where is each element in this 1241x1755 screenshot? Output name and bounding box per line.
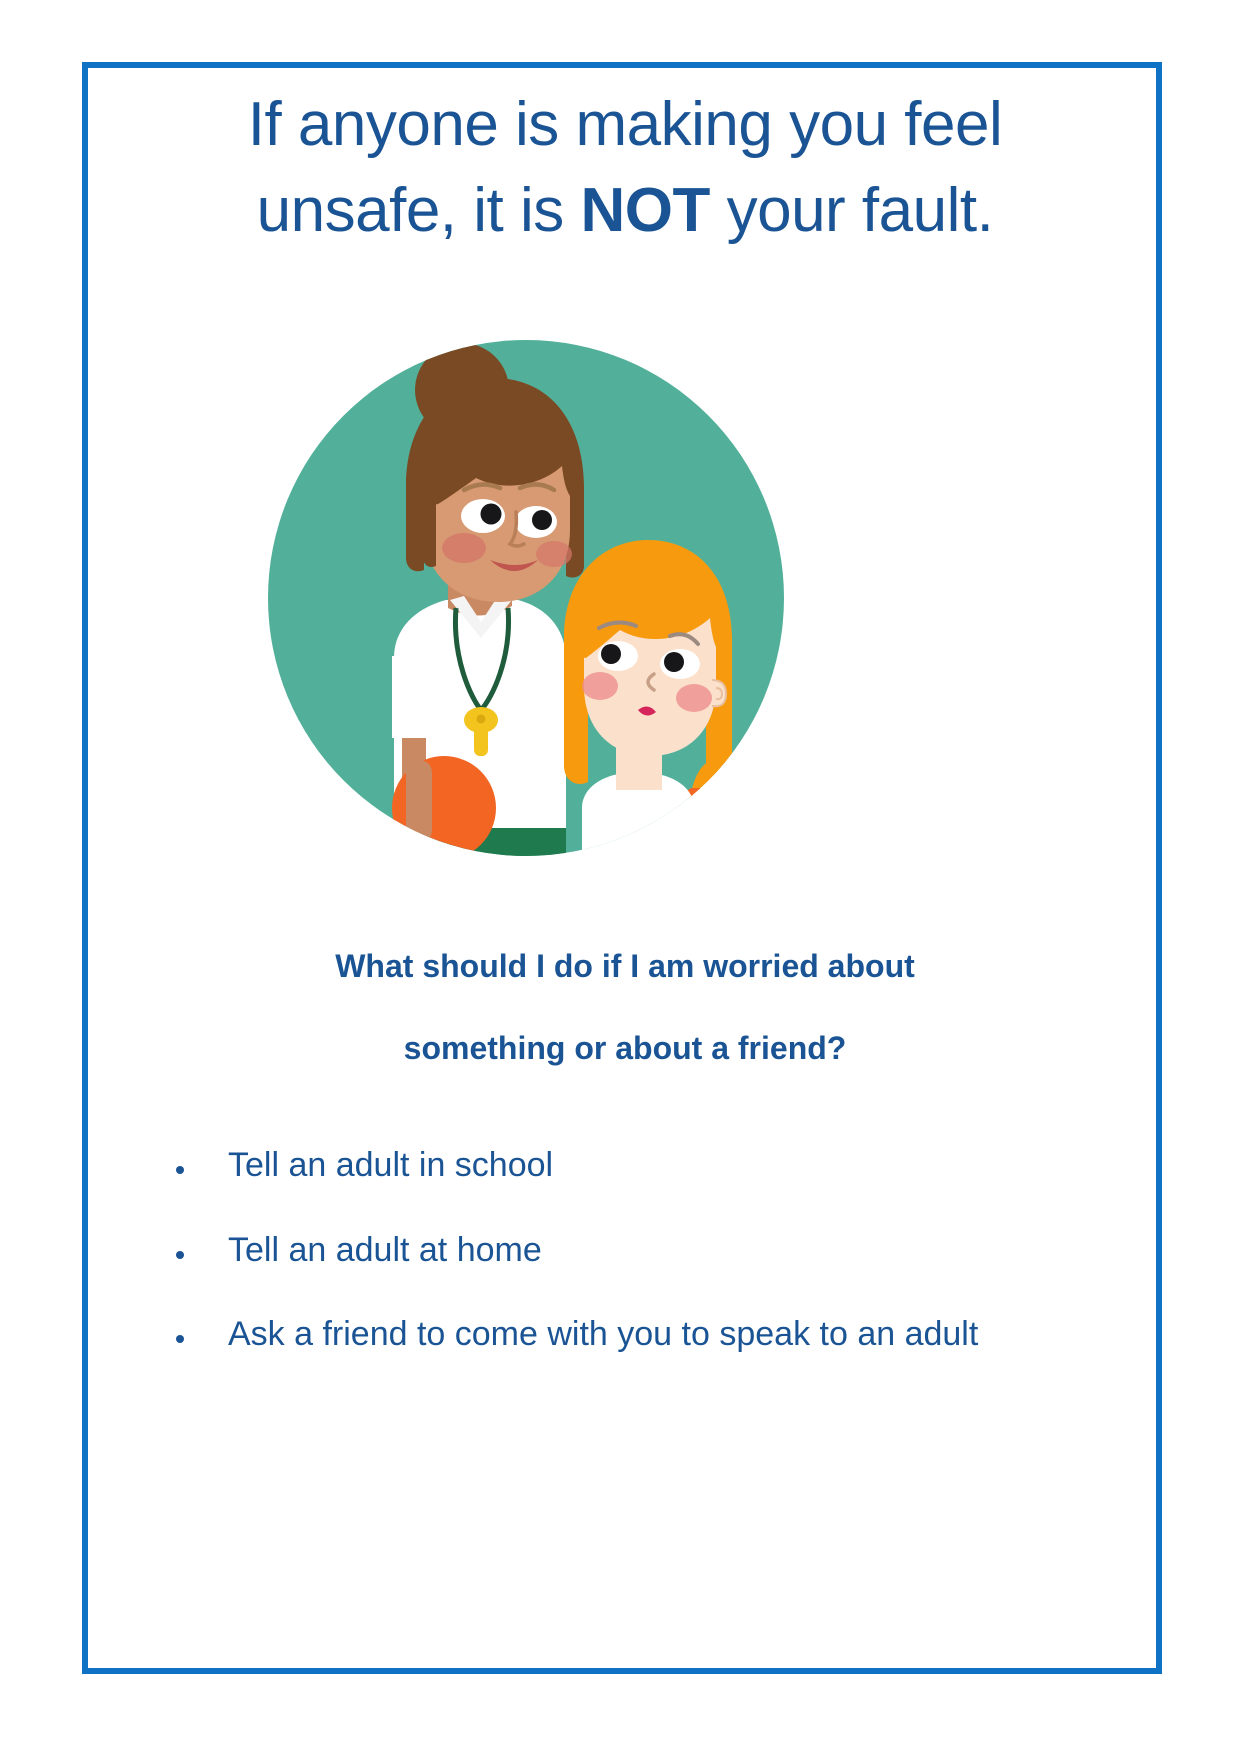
poster-frame: If anyone is making you feel unsafe, it … bbox=[82, 62, 1162, 1674]
bullet-dot-icon bbox=[176, 1335, 184, 1343]
bullet-dot-icon bbox=[176, 1251, 184, 1259]
illustration-teacher-and-child bbox=[266, 308, 786, 868]
bullet-dot-icon bbox=[176, 1166, 184, 1174]
adult-hair-side bbox=[422, 478, 436, 567]
page-title: If anyone is making you feel unsafe, it … bbox=[118, 82, 1132, 253]
question-line-2: something or about a friend? bbox=[128, 1008, 1122, 1090]
adult-hand bbox=[406, 760, 432, 844]
title-line-2-after: your fault. bbox=[710, 176, 993, 245]
title-line-2-before: unsafe, it is bbox=[257, 176, 581, 245]
title-emphasis-not: NOT bbox=[580, 176, 709, 245]
question-line-1: What should I do if I am worried about bbox=[128, 926, 1122, 1008]
child-hair-tie bbox=[686, 788, 728, 804]
child-pupil-right bbox=[664, 652, 684, 672]
list-item: Tell an adult at home bbox=[88, 1225, 1148, 1277]
adult-cheek-left bbox=[442, 533, 486, 563]
adult-cheek-right bbox=[536, 541, 572, 567]
child-pupil-left bbox=[601, 644, 621, 664]
title-line-2: unsafe, it is NOT your fault. bbox=[118, 168, 1132, 254]
child-cheek-right bbox=[676, 684, 712, 712]
child-ear bbox=[712, 680, 726, 706]
list-item-label: Tell an adult in school bbox=[228, 1140, 1088, 1192]
title-line-1: If anyone is making you feel bbox=[118, 82, 1132, 168]
question-heading: What should I do if I am worried about s… bbox=[128, 926, 1122, 1089]
adult-sleeve bbox=[392, 656, 436, 738]
list-item-label: Ask a friend to come with you to speak t… bbox=[228, 1309, 1088, 1361]
child-cheek-left bbox=[582, 672, 618, 700]
list-item: Ask a friend to come with you to speak t… bbox=[88, 1309, 1148, 1361]
adult-pupil-right bbox=[532, 510, 552, 530]
list-item: Tell an adult in school bbox=[88, 1140, 1148, 1192]
adult-pupil-left bbox=[481, 504, 502, 525]
list-item-label: Tell an adult at home bbox=[228, 1225, 1088, 1277]
action-list: Tell an adult in school Tell an adult at… bbox=[88, 1140, 1148, 1361]
